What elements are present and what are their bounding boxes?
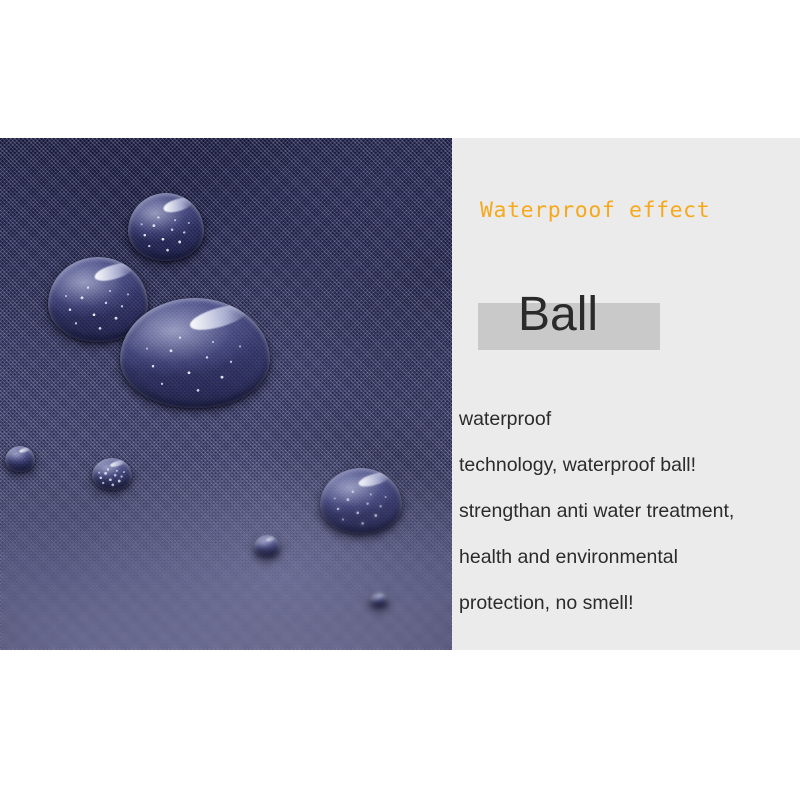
waterproof-fabric-photo: [0, 138, 452, 650]
description-line: strengthan anti water treatment,: [459, 488, 800, 534]
description-line: technology, waterproof ball!: [459, 442, 800, 488]
description-line: protection, no smell!: [459, 580, 800, 626]
description-text: waterprooftechnology, waterproof ball!st…: [459, 396, 800, 626]
panel-heading: Waterproof effect: [480, 198, 800, 223]
fabric-vignette: [0, 138, 452, 650]
product-banner: Waterproof effect Ball waterprooftechnol…: [0, 138, 800, 650]
description-line: health and environmental: [459, 534, 800, 580]
description-panel: Waterproof effect Ball waterprooftechnol…: [452, 138, 800, 650]
description-line: waterproof: [459, 396, 800, 442]
panel-title-block: Ball: [478, 288, 778, 348]
page-title: Ball: [518, 288, 598, 342]
